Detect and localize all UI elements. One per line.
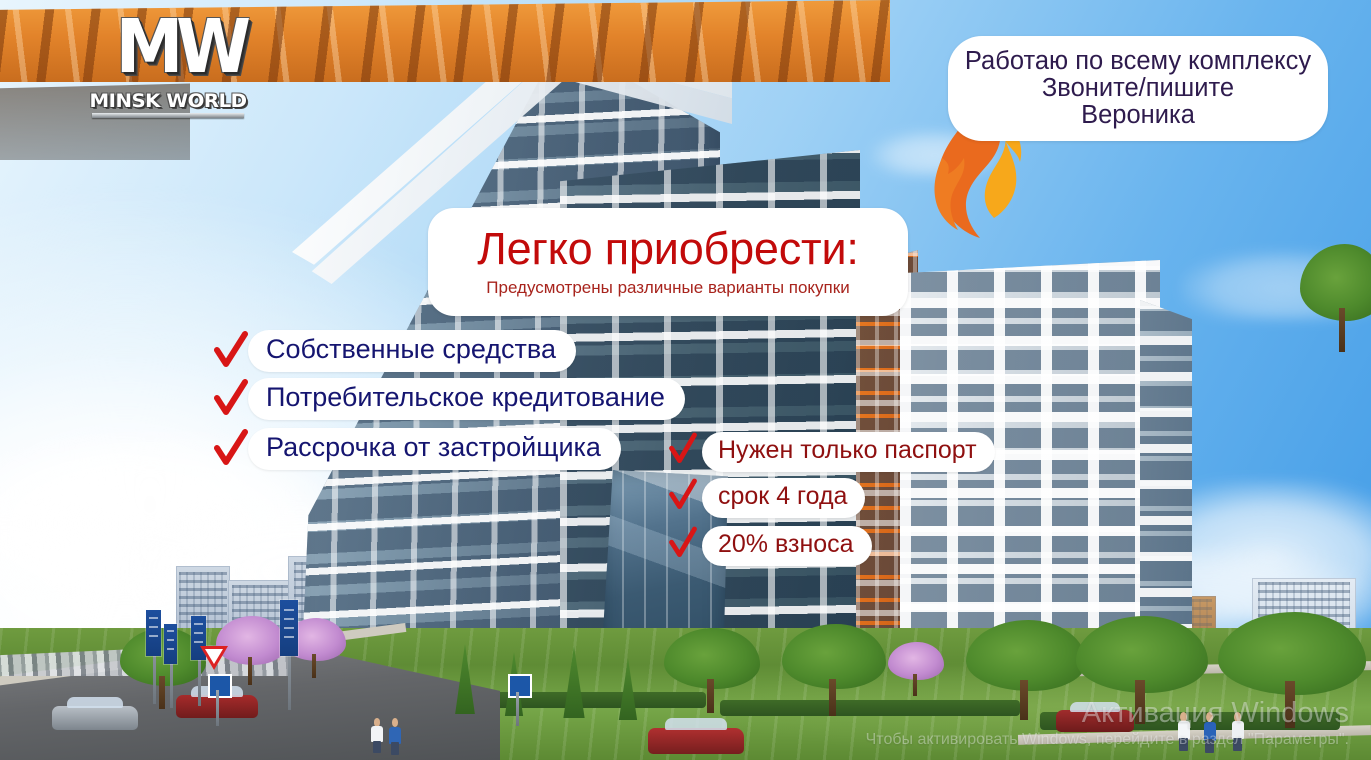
payment-option-label: Рассрочка от застройщика [248, 428, 621, 470]
page-subtitle: Предусмотрены различные варианты покупки [486, 278, 849, 298]
check-mark-icon [668, 432, 702, 472]
pedestrian-legs [1205, 739, 1213, 753]
pedestrian-legs [391, 742, 399, 754]
pedestrian [1176, 712, 1191, 750]
tree-crown [1300, 244, 1371, 321]
blossom-tree [888, 642, 944, 694]
pedestrian-head [392, 718, 399, 727]
tree-trunk [159, 676, 165, 709]
logo-wordmark: MINSK WORLD [85, 90, 251, 112]
pedestrian [1202, 712, 1217, 752]
tree-trunk [1339, 308, 1345, 352]
pedestrian-head [1206, 712, 1213, 722]
logo-underline [92, 113, 244, 118]
callout-line-1: Работаю по всему комплексу [965, 48, 1311, 75]
payment-option-row[interactable]: Потребительское кредитование [214, 378, 685, 420]
pedestrian-body [371, 726, 382, 742]
check-mark-icon [214, 379, 248, 419]
check-mark-icon [214, 331, 248, 371]
pedestrian [388, 718, 402, 754]
tree-trunk [913, 674, 917, 696]
pedestrian-crossing-sign [208, 674, 232, 698]
payment-option-row[interactable]: Собственные средства [214, 330, 576, 372]
pedestrian-body [1232, 721, 1244, 739]
pedestrian-crossing-sign [508, 674, 532, 698]
tree-trunk [707, 679, 714, 713]
sign-pole [516, 692, 519, 726]
sign-pole [216, 690, 219, 726]
pedestrian-body [1204, 722, 1216, 741]
pedestrian [1230, 712, 1245, 750]
payment-option-label: Собственные средства [248, 330, 576, 372]
agent-contact-callout[interactable]: Работаю по всему комплексу Звоните/пишит… [948, 36, 1328, 141]
pedestrian-legs [1179, 738, 1187, 751]
payment-option-row[interactable]: Рассрочка от застройщика [214, 428, 621, 470]
tree-trunk [1020, 680, 1028, 720]
check-mark-icon [668, 526, 702, 566]
callout-line-3: Вероника [1081, 102, 1195, 129]
pedestrian-body [389, 727, 400, 744]
page-title: Легко приобрести: [477, 226, 858, 271]
installment-term-label: срок 4 года [702, 478, 865, 518]
yield-sign [200, 646, 228, 670]
street-banner [280, 600, 298, 656]
installment-term-row[interactable]: срок 4 года [668, 478, 865, 518]
tree [664, 628, 760, 710]
tree-trunk [1135, 680, 1144, 724]
pedestrian-legs [373, 741, 381, 753]
pedestrian [370, 718, 384, 752]
installment-term-label: 20% взноса [702, 526, 872, 566]
pedestrian-legs [1233, 738, 1241, 751]
installment-term-row[interactable]: Нужен только паспорт [668, 432, 995, 472]
tree-trunk [248, 657, 253, 685]
callout-line-2: Звоните/пишите [1042, 75, 1234, 102]
tree-trunk [829, 679, 836, 716]
tree-trunk [312, 654, 316, 678]
tree [782, 624, 886, 712]
logo-monogram: MW [116, 12, 244, 82]
pedestrian-body [1178, 721, 1190, 739]
poster-canvas: MW MINSK WORLD Работаю по всему комплекс… [0, 0, 1371, 760]
car [52, 706, 138, 730]
check-mark-icon [668, 478, 702, 518]
installment-term-row[interactable]: 20% взноса [668, 526, 872, 566]
minsk-world-logo[interactable]: MW MINSK WORLD [88, 12, 248, 120]
tree [1218, 612, 1366, 724]
car [648, 728, 744, 754]
headline-card: Легко приобрести: Предусмотрены различны… [428, 208, 908, 316]
tree [1300, 244, 1371, 348]
street-banner [164, 624, 177, 664]
check-mark-icon [214, 429, 248, 469]
tree [1076, 616, 1208, 720]
street-banner [146, 610, 161, 656]
tree-trunk [1285, 681, 1295, 728]
tree [966, 620, 1086, 716]
installment-term-label: Нужен только паспорт [702, 432, 995, 472]
payment-option-label: Потребительское кредитование [248, 378, 685, 420]
